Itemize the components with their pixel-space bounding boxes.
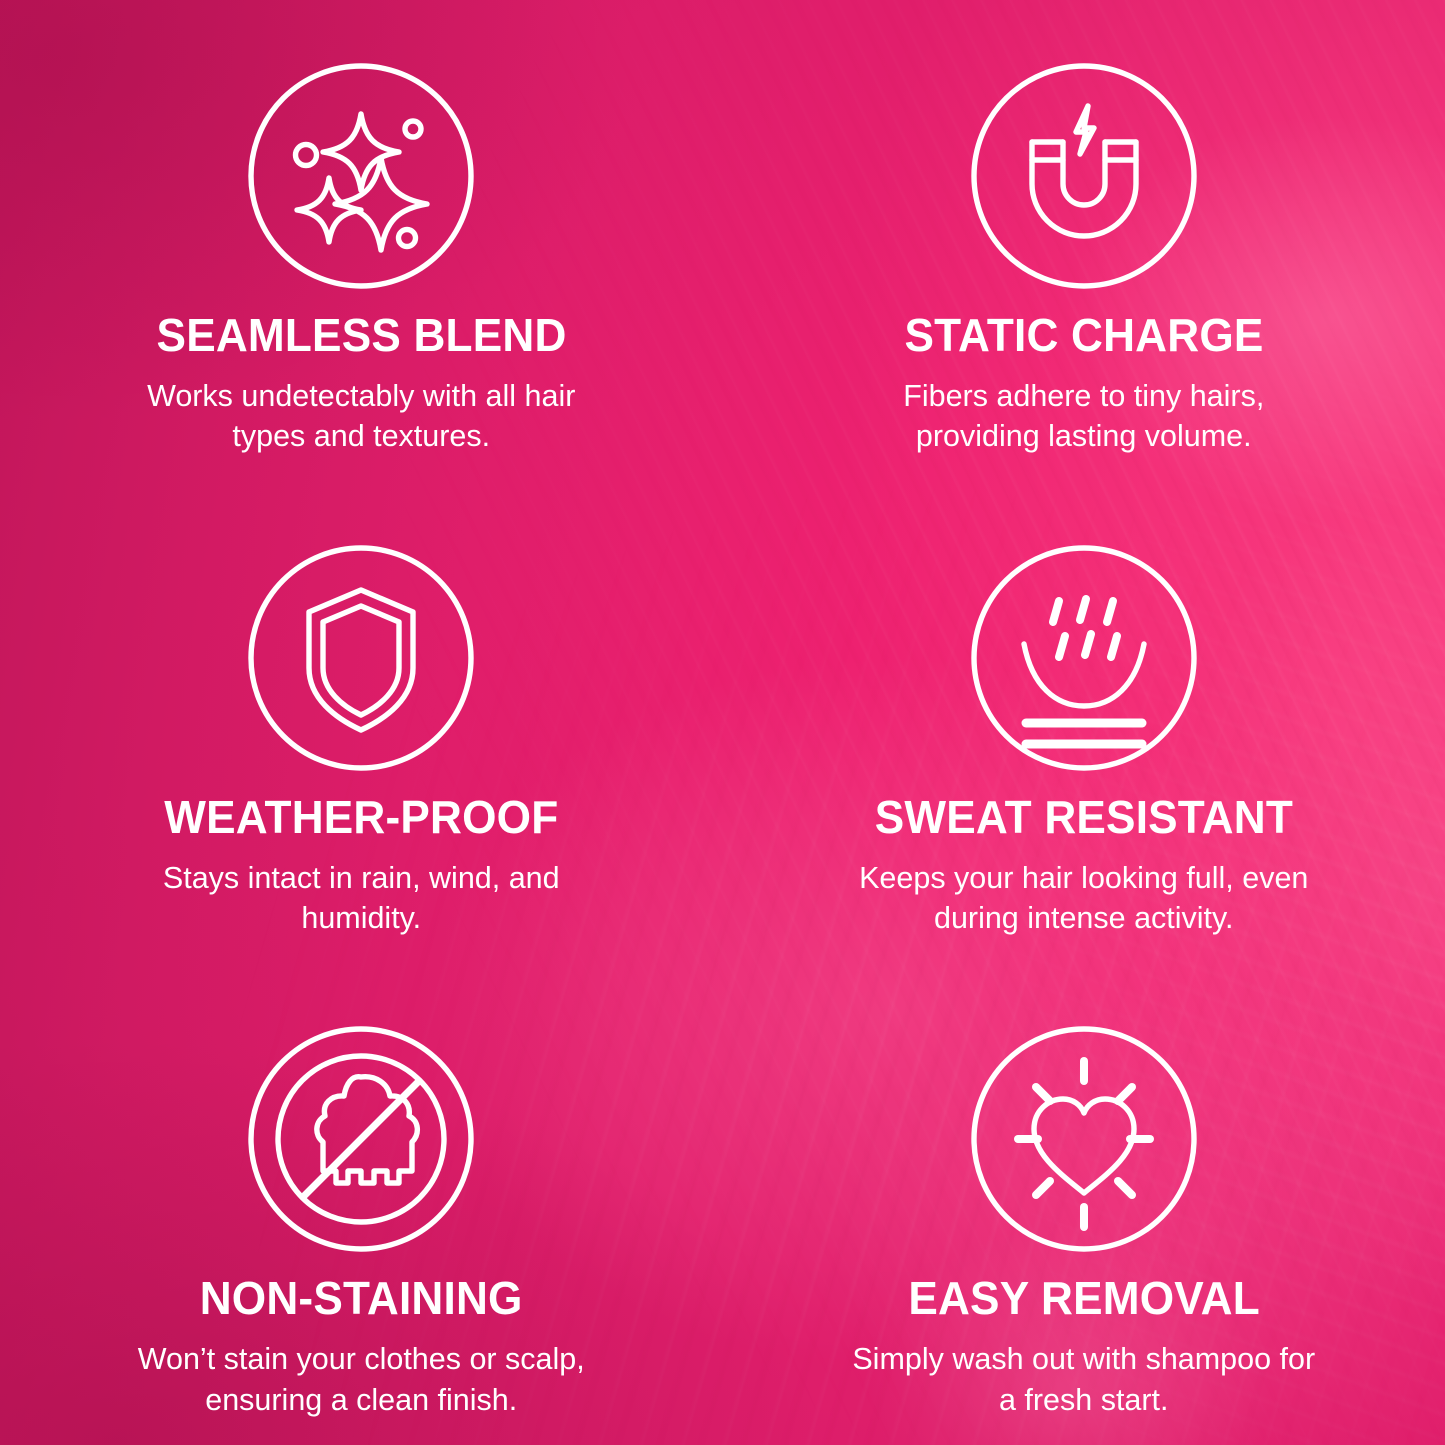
shining-heart-icon (970, 1025, 1198, 1253)
feature-card-non-staining: NON-STAINING Won’t stain your clothes or… (0, 963, 723, 1445)
feature-card-weather-proof: WEATHER-PROOF Stays intact in rain, wind… (0, 482, 723, 964)
feature-description: Simply wash out with shampoo for a fresh… (849, 1339, 1319, 1420)
feature-description: Works undetectably with all hair types a… (126, 376, 596, 457)
water-repellent-icon (970, 544, 1198, 772)
feature-description: Fibers adhere to tiny hairs, providing l… (849, 376, 1319, 457)
feature-title: EASY REMOVAL (908, 1275, 1260, 1322)
feature-title: SEAMLESS BLEND (156, 312, 566, 359)
feature-card-easy-removal: EASY REMOVAL Simply wash out with shampo… (723, 963, 1445, 1445)
feature-description: Keeps your hair looking full, even durin… (849, 858, 1319, 939)
feature-title: WEATHER-PROOF (164, 794, 558, 841)
feature-title: NON-STAINING (200, 1275, 523, 1322)
feature-description: Stays intact in rain, wind, and humidity… (126, 858, 596, 939)
shield-icon (247, 544, 475, 772)
feature-card-static-charge: STATIC CHARGE Fibers adhere to tiny hair… (723, 0, 1445, 482)
feature-title: STATIC CHARGE (904, 312, 1263, 359)
feature-card-seamless-blend: SEAMLESS BLEND Works undetectably with a… (0, 0, 723, 482)
feature-description: Won’t stain your clothes or scalp, ensur… (126, 1339, 596, 1420)
magnet-icon (970, 62, 1198, 290)
no-stain-icon (247, 1025, 475, 1253)
feature-grid: SEAMLESS BLEND Works undetectably with a… (0, 0, 1445, 1445)
sparkles-icon (247, 62, 475, 290)
feature-card-sweat-resistant: SWEAT RESISTANT Keeps your hair looking … (723, 482, 1445, 964)
feature-title: SWEAT RESISTANT (875, 794, 1293, 841)
feature-infographic-poster: SEAMLESS BLEND Works undetectably with a… (0, 0, 1445, 1445)
